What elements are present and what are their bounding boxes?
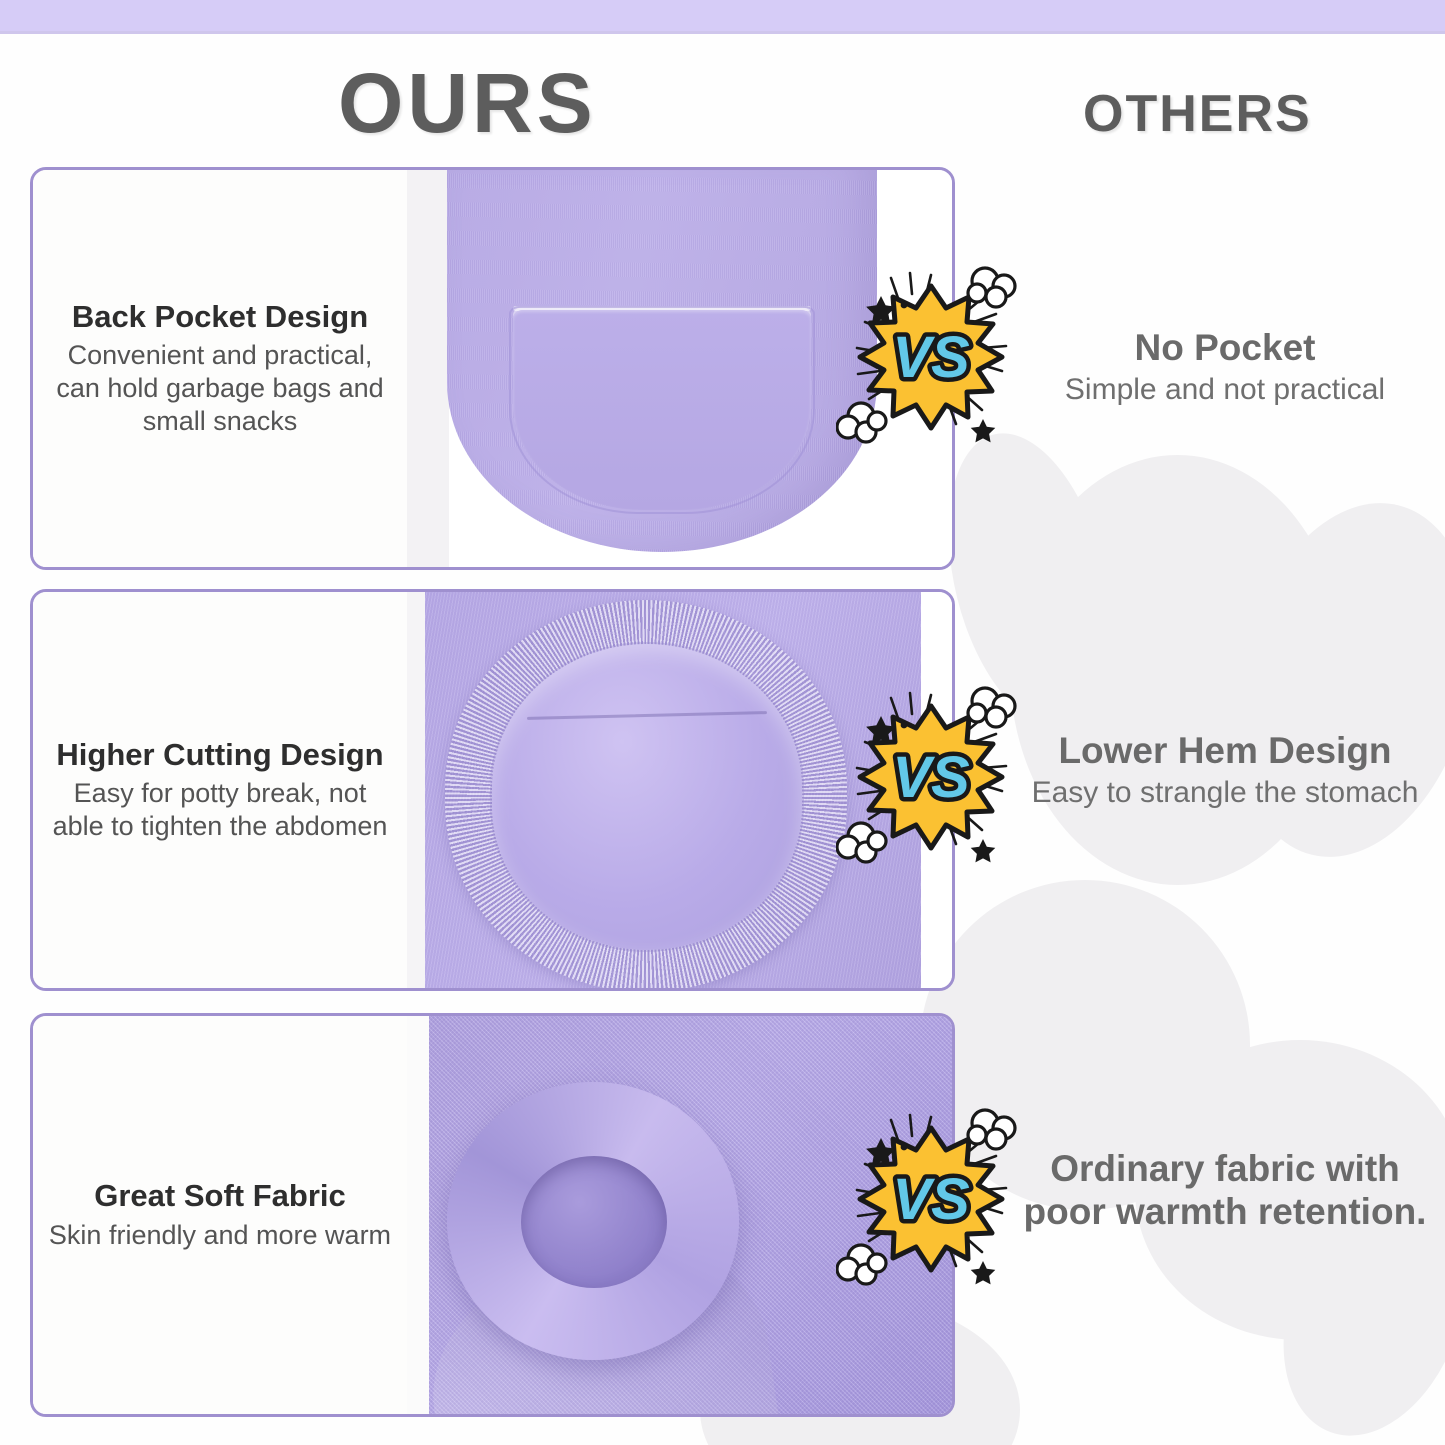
vs-badge-label: VS (892, 325, 970, 390)
paw-blob (1010, 455, 1345, 885)
vs-badge-3: VS VS (836, 1106, 1026, 1292)
comparison-card-3: Great Soft Fabric Skin friendly and more… (30, 1013, 955, 1417)
photo-edge (407, 170, 449, 567)
others-3-title: Ordinary fabric with poor warmth retenti… (1010, 1148, 1440, 1234)
card-2-title: Higher Cutting Design (56, 737, 383, 772)
others-2-title: Lower Hem Design (1010, 730, 1440, 772)
infographic-canvas: OURS OTHERS Back Pocket Design Convenien… (0, 0, 1445, 1445)
photo-edge (407, 592, 425, 988)
top-accent-bar-edge (0, 31, 1445, 34)
comparison-card-2: Higher Cutting Design Easy for potty bre… (30, 589, 955, 991)
others-1-title: No Pocket (1010, 327, 1440, 369)
card-3-title: Great Soft Fabric (94, 1178, 346, 1213)
header-others: OTHERS (1083, 84, 1312, 144)
others-1-subtitle: Simple and not practical (1010, 372, 1440, 408)
others-entry-1: No Pocket Simple and not practical (1010, 327, 1440, 408)
card-2-subtitle: Easy for potty break, not able to tighte… (45, 777, 395, 843)
hem-inner-opening (492, 644, 802, 950)
pocket-shape (513, 310, 811, 510)
vs-badge-1: VS VS (836, 264, 1026, 450)
card-2-text-panel: Higher Cutting Design Easy for potty bre… (33, 592, 407, 988)
others-2-subtitle: Easy to strangle the stomach (1010, 775, 1440, 811)
vs-badge-label: VS (892, 1167, 970, 1232)
top-accent-bar (0, 0, 1445, 31)
paw-blob (1200, 478, 1445, 883)
card-3-text-panel: Great Soft Fabric Skin friendly and more… (33, 1016, 407, 1414)
others-entry-3: Ordinary fabric with poor warmth retenti… (1010, 1148, 1440, 1237)
header-ours: OURS (338, 55, 597, 152)
card-3-subtitle: Skin friendly and more warm (49, 1219, 391, 1252)
vs-badge-label: VS (892, 745, 970, 810)
fabric-swirl-fold (447, 1082, 739, 1360)
comparison-card-1: Back Pocket Design Convenient and practi… (30, 167, 955, 570)
vs-badge-2: VS VS (836, 684, 1026, 870)
card-1-subtitle: Convenient and practical, can hold garba… (45, 339, 395, 438)
card-1-text-panel: Back Pocket Design Convenient and practi… (33, 170, 407, 567)
card-1-title: Back Pocket Design (72, 299, 368, 334)
others-entry-2: Lower Hem Design Easy to strangle the st… (1010, 730, 1440, 811)
photo-edge (407, 1016, 429, 1414)
